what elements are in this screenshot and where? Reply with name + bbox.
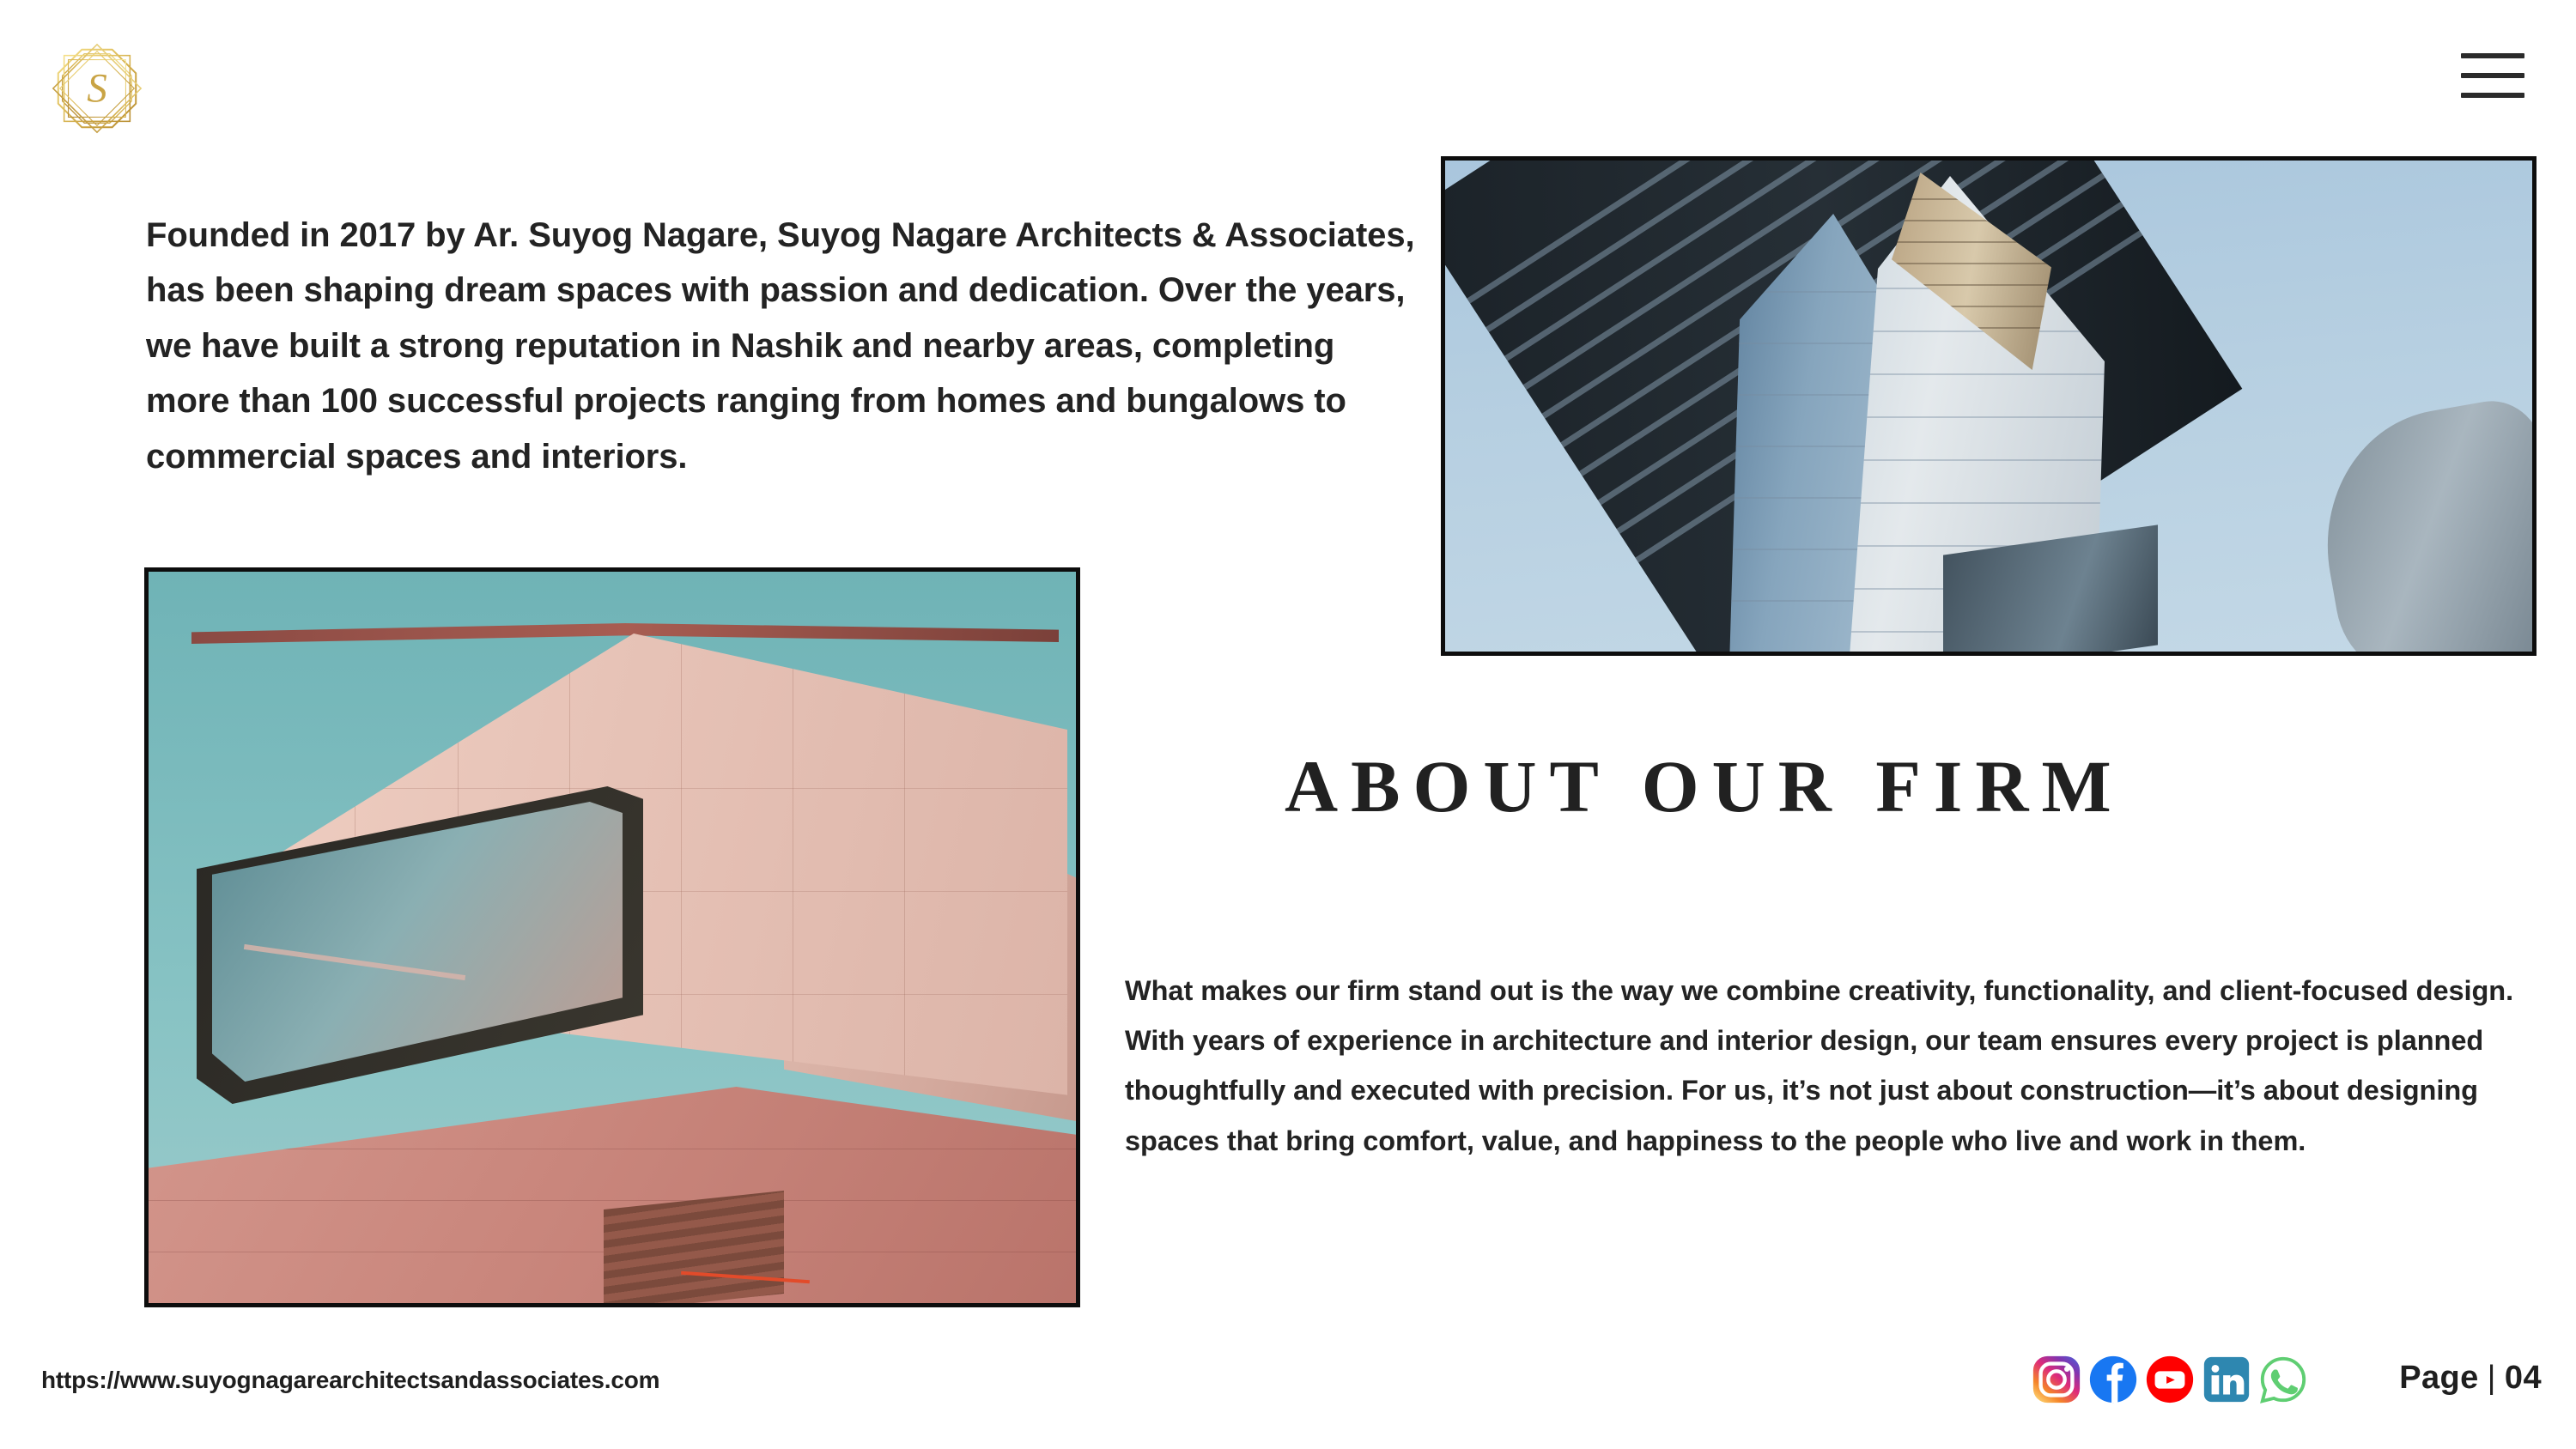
- whatsapp-icon[interactable]: [2257, 1353, 2310, 1406]
- body-paragraph: What makes our firm stand out is the way…: [1125, 966, 2542, 1166]
- page-divider: |: [2479, 1360, 2505, 1396]
- modern-house-image: [144, 567, 1080, 1307]
- linkedin-icon[interactable]: [2200, 1353, 2253, 1406]
- intro-paragraph: Founded in 2017 by Ar. Suyog Nagare, Suy…: [146, 208, 1417, 484]
- hamburger-menu-button[interactable]: [2461, 53, 2524, 98]
- website-url-link[interactable]: https://www.suyognagarearchitectsandasso…: [41, 1367, 659, 1394]
- svg-text:S: S: [87, 67, 107, 112]
- section-heading: ABOUT OUR FIRM: [1285, 743, 2281, 829]
- menu-bar-middle: [2461, 73, 2524, 78]
- menu-bar-top: [2461, 53, 2524, 58]
- menu-bar-bottom: [2461, 93, 2524, 98]
- site-footer: https://www.suyognagarearchitectsandasso…: [0, 1329, 2576, 1449]
- monogram-icon: S: [46, 38, 148, 139]
- hero-tower-image: [1441, 156, 2537, 656]
- page-number: 04: [2505, 1360, 2542, 1396]
- page-label: Page: [2399, 1360, 2478, 1396]
- page-indicator: Page|04: [2399, 1360, 2542, 1397]
- curved-metal-structure: [2306, 393, 2537, 656]
- youtube-icon[interactable]: [2143, 1353, 2196, 1406]
- site-header: S: [0, 0, 2576, 163]
- wood-cladding: [604, 1191, 784, 1307]
- instagram-icon[interactable]: [2030, 1353, 2083, 1406]
- house-photo-art: [149, 572, 1076, 1303]
- facebook-icon[interactable]: [2087, 1353, 2140, 1406]
- brand-logo[interactable]: S: [46, 38, 148, 139]
- social-links: [2030, 1353, 2310, 1406]
- house-window-glass: [212, 802, 623, 1082]
- tower-photo-art: [1445, 161, 2532, 652]
